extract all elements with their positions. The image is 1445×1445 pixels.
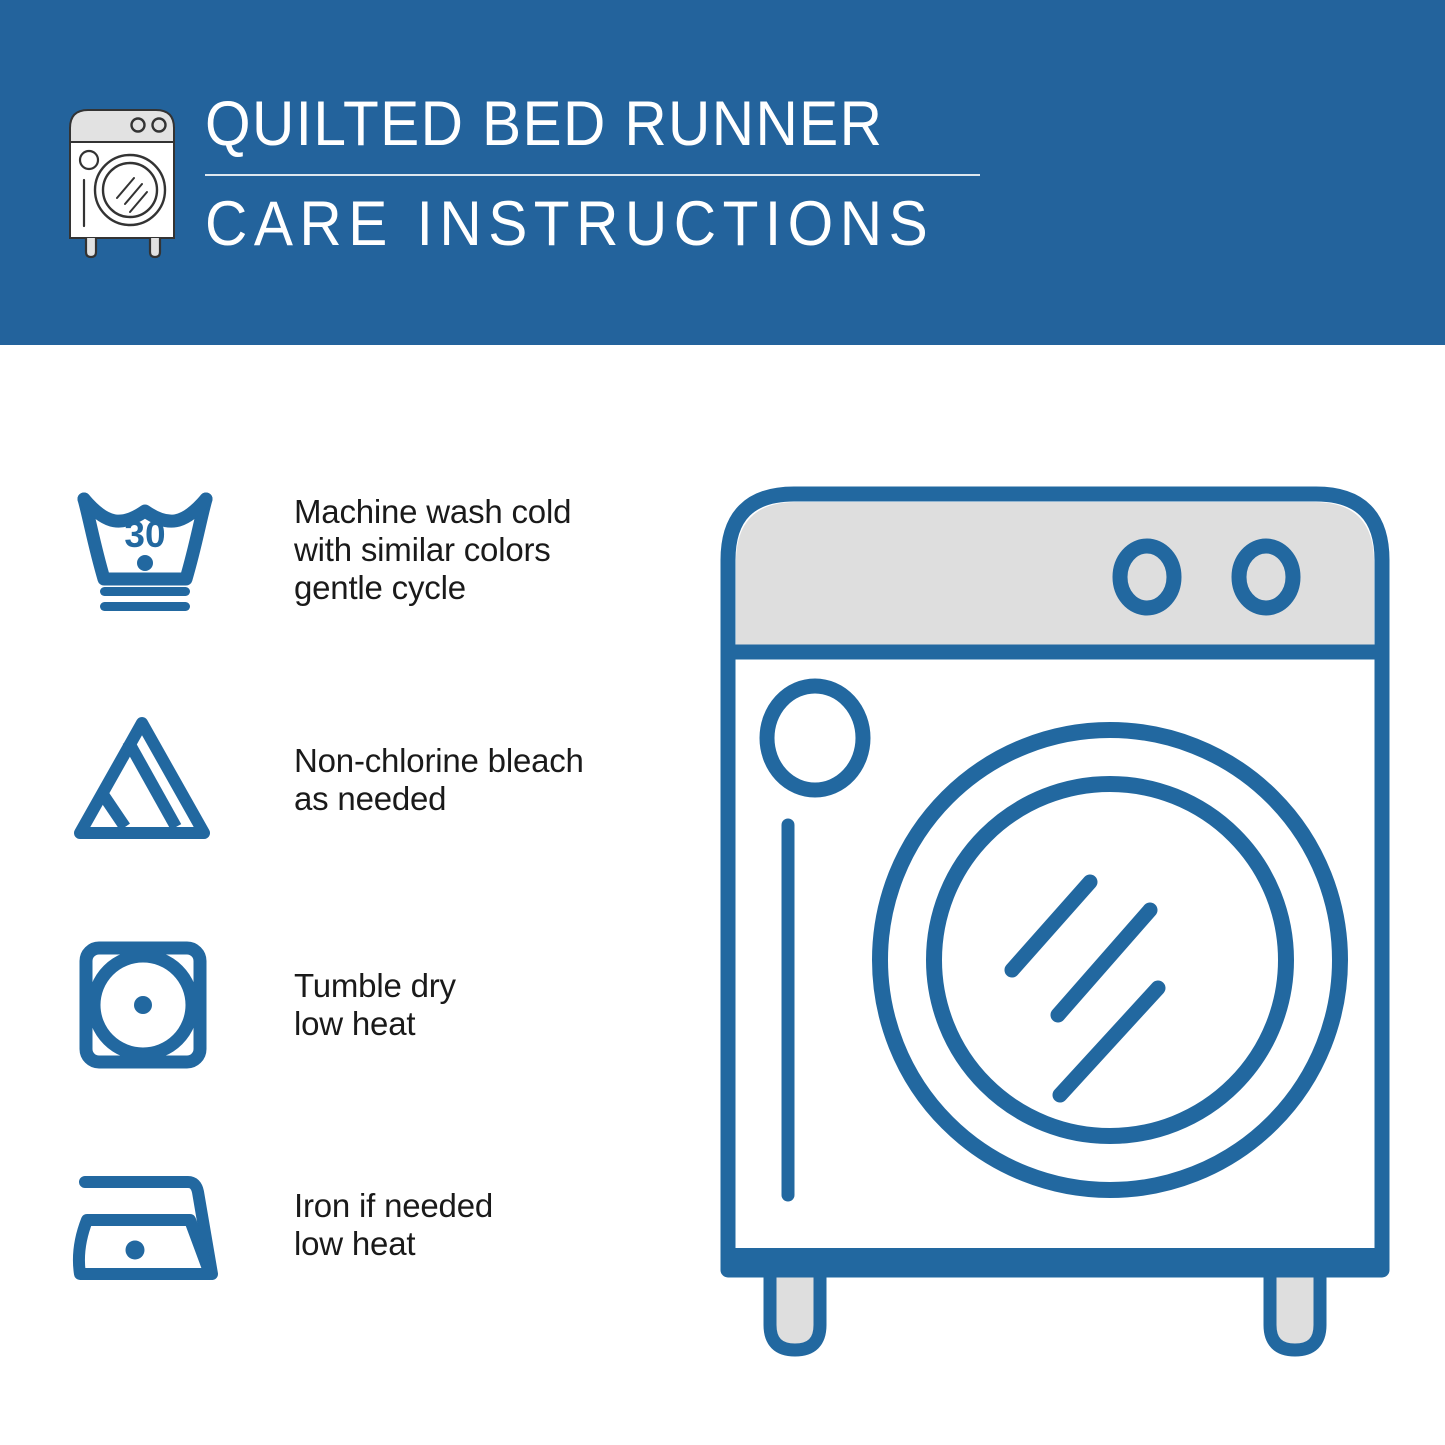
header-text-block: QUILTED BED RUNNER CARE INSTRUCTIONS [205, 88, 1005, 260]
care-label-iron: Iron if needed low heat [294, 1187, 493, 1263]
care-instructions-page: QUILTED BED RUNNER CARE INSTRUCTIONS 30 [0, 0, 1445, 1445]
care-row-tumble-dry: Tumble dry low heat [70, 940, 650, 1070]
page-title: QUILTED BED RUNNER [205, 88, 949, 160]
bleach-triangle-icon [70, 715, 230, 845]
care-text-line: low heat [294, 1005, 456, 1043]
care-label-machine-wash: Machine wash cold with similar colors ge… [294, 493, 571, 607]
care-text-line: Machine wash cold [294, 493, 571, 531]
title-divider [205, 174, 980, 176]
iron-icon [70, 1160, 230, 1290]
care-text-line: Iron if needed [294, 1187, 493, 1225]
care-text-line: as needed [294, 780, 584, 818]
wash-tub-icon: 30 [70, 485, 230, 615]
care-text-line: gentle cycle [294, 569, 571, 607]
care-row-machine-wash: 30 Machine wash cold with similar colors… [70, 485, 650, 615]
care-row-iron: Iron if needed low heat [70, 1160, 650, 1290]
washing-machine-illustration [710, 470, 1410, 1370]
care-text-line: Tumble dry [294, 967, 456, 1005]
care-label-bleach: Non-chlorine bleach as needed [294, 742, 584, 818]
washing-machine-icon [62, 100, 182, 260]
care-text-line: low heat [294, 1225, 493, 1263]
tumble-dry-icon [70, 940, 230, 1070]
page-subtitle: CARE INSTRUCTIONS [205, 188, 949, 260]
care-symbol-list: 30 Machine wash cold with similar colors… [0, 345, 660, 1445]
machine-base-bar [728, 1248, 1382, 1270]
header-banner: QUILTED BED RUNNER CARE INSTRUCTIONS [0, 0, 1445, 345]
machine-control-panel [736, 502, 1374, 652]
care-text-line: with similar colors [294, 531, 571, 569]
wash-temperature-value: 30 [124, 514, 165, 555]
care-text-line: Non-chlorine bleach [294, 742, 584, 780]
care-label-tumble-dry: Tumble dry low heat [294, 967, 456, 1043]
care-row-bleach: Non-chlorine bleach as needed [70, 715, 650, 845]
